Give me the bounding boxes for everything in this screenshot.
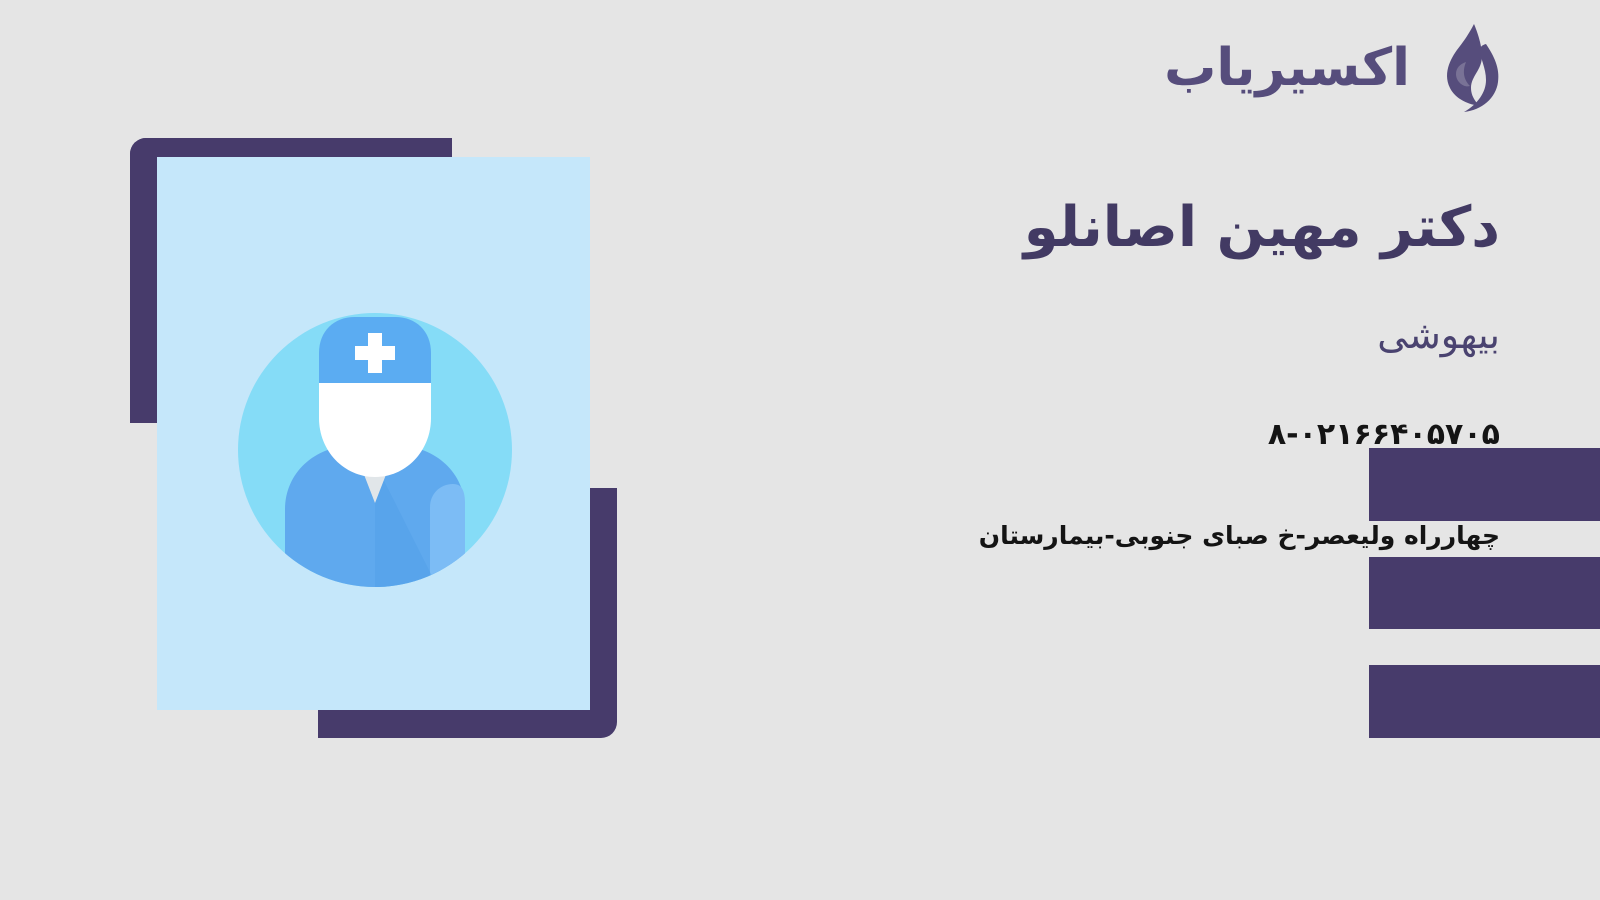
doctor-illustration [0,0,660,790]
decor-bar-3 [1369,665,1600,738]
decor-bar-1 [1369,448,1600,521]
decor-bar-2 [1369,557,1600,629]
profile-card-canvas: اکسیریاب [0,0,1600,900]
decor-bars [1369,0,1600,900]
doctor-avatar [238,313,513,588]
